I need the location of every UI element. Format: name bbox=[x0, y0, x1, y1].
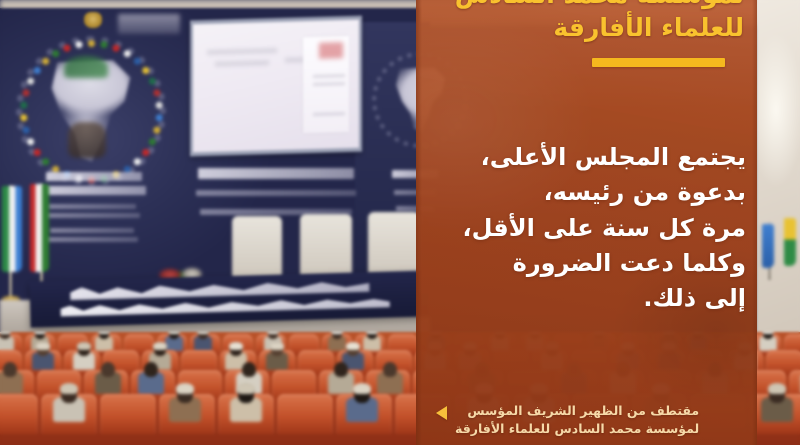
audience-member-cap bbox=[346, 342, 359, 350]
audience-member-cap bbox=[229, 342, 242, 350]
audience-member-head bbox=[3, 362, 17, 377]
foundation-crest-icon bbox=[84, 12, 102, 28]
poster-title: لمؤسسة محمد السادس للعلماء الأفارقة bbox=[432, 0, 744, 44]
africa-map-circular-emblem bbox=[16, 36, 166, 186]
audience-member-cap bbox=[153, 342, 166, 350]
auditorium-seat bbox=[100, 394, 156, 434]
quote-line-1: يجتمع المجلس الأعلى، bbox=[436, 140, 746, 175]
audience-member-head bbox=[242, 362, 256, 377]
screen-text-line bbox=[207, 48, 277, 55]
audience-member-head bbox=[101, 362, 115, 377]
audience-member-cap bbox=[366, 332, 377, 334]
attribution-text: مقتطف من الظهير الشريف المؤسس لمؤسسة محم… bbox=[455, 402, 699, 438]
audience-member-cap bbox=[267, 332, 278, 334]
backdrop-center-french bbox=[196, 190, 356, 196]
audience-member-cap bbox=[98, 332, 109, 334]
audience-member-cap bbox=[34, 332, 45, 334]
audience-member-cap bbox=[77, 342, 90, 350]
audience-member-cap bbox=[36, 342, 49, 350]
flag-yellow-green-right bbox=[784, 218, 796, 266]
title-underline-bar bbox=[592, 58, 725, 67]
podium-banner-arabic bbox=[70, 279, 370, 300]
africa-figure-accent bbox=[68, 122, 106, 158]
flag-blue-right bbox=[762, 224, 774, 268]
poster-canvas: لمؤسسة محمد السادس للعلماء الأفارقة يجتم… bbox=[0, 0, 800, 445]
audience-member-cap bbox=[0, 332, 11, 334]
triangle-left-icon bbox=[436, 406, 447, 420]
audience-member-cap bbox=[270, 342, 283, 350]
audience-member-cap bbox=[237, 383, 256, 394]
screen-document-logo bbox=[319, 42, 343, 59]
backdrop-english-line-2 bbox=[46, 237, 138, 242]
quote-line-4: وكلما دعت الضرورة bbox=[436, 246, 746, 281]
panel-left-edge bbox=[416, 0, 422, 445]
stage-chair bbox=[368, 212, 420, 276]
audience-member-cap bbox=[197, 332, 208, 334]
backdrop-center-arabic bbox=[198, 168, 354, 179]
backdrop-arabic-line-2 bbox=[42, 186, 146, 195]
attribution-block: مقتطف من الظهير الشريف المؤسس لمؤسسة محم… bbox=[436, 402, 748, 438]
quote-line-2: بدعوة من رئيسه، bbox=[436, 175, 746, 210]
audience-member-cap bbox=[768, 383, 787, 394]
title-line-2: للعلماء الأفارقة bbox=[553, 13, 744, 42]
title-line-1: لمؤسسة محمد السادس bbox=[455, 0, 744, 9]
flag-national bbox=[30, 184, 49, 272]
backdrop-arabic-line-1 bbox=[46, 172, 142, 181]
audience-member-head bbox=[383, 362, 397, 377]
panel-right-edge bbox=[752, 0, 757, 445]
backdrop-french-line-2 bbox=[44, 213, 140, 218]
audience-member-head bbox=[144, 362, 158, 377]
audience-member-cap bbox=[353, 383, 372, 394]
projection-screen bbox=[190, 16, 362, 157]
audience-member-head bbox=[334, 362, 348, 377]
quote-line-5: إلى ذلك. bbox=[436, 281, 746, 316]
quote-text: يجتمع المجلس الأعلى، بدعوة من رئيسه، مرة… bbox=[436, 140, 746, 316]
africa-green-accent bbox=[64, 56, 108, 78]
projection-screen-surface bbox=[193, 20, 359, 153]
backdrop-french-line-1 bbox=[48, 204, 136, 209]
backdrop-english-line-1 bbox=[50, 228, 134, 233]
audience-member-cap bbox=[176, 383, 195, 394]
quote-line-3: مرة كل سنة على الأقل، bbox=[436, 211, 746, 246]
podium-banner-french bbox=[60, 297, 390, 317]
flag-sierra-leone bbox=[2, 186, 22, 272]
audience-member-cap bbox=[331, 332, 342, 334]
auditorium-seat bbox=[0, 394, 38, 434]
audience-member-cap bbox=[762, 332, 773, 334]
audience-member-cap bbox=[60, 383, 79, 394]
stage-chair bbox=[232, 216, 282, 278]
screen-text-line bbox=[215, 60, 269, 67]
attribution-line-1: مقتطف من الظهير الشريف المؤسس bbox=[455, 402, 699, 420]
window-glow bbox=[756, 20, 800, 220]
attribution-line-2: لمؤسسة محمد السادس للعلماء الأفارقة bbox=[455, 420, 699, 438]
auditorium-seat bbox=[277, 394, 333, 434]
audience-member-cap bbox=[168, 332, 179, 334]
stage-chair bbox=[300, 214, 352, 278]
backdrop-header-text bbox=[118, 14, 180, 34]
